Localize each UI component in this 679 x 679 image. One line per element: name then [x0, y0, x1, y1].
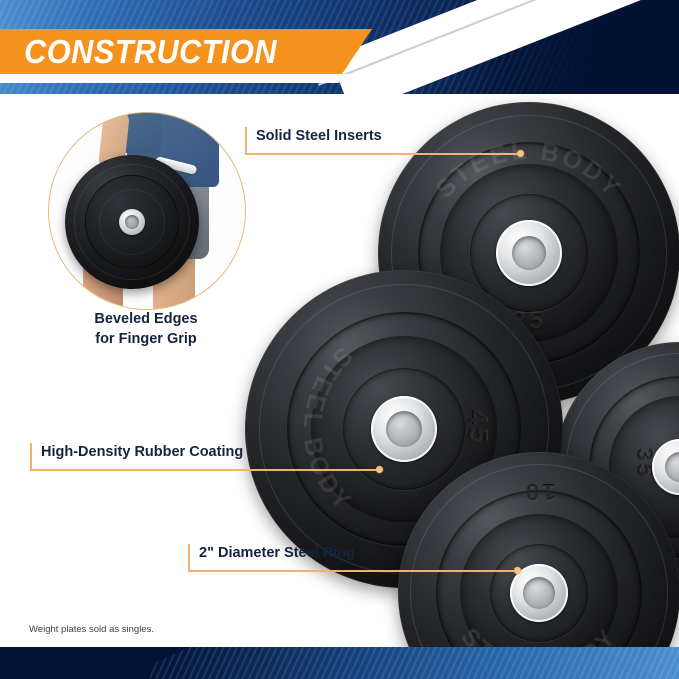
- inset-caption-line1: Beveled Edges: [28, 310, 264, 330]
- plate-10: 10 STEEL BODY: [398, 452, 679, 679]
- beveled-edge-inset-photo: [48, 112, 246, 310]
- callout-1-leader-tick: [245, 127, 247, 155]
- footer-banner-area: [0, 647, 679, 679]
- callout-2-leader-dot: [376, 466, 383, 473]
- inset-caption-line2: for Finger Grip: [28, 330, 264, 350]
- inset-scene: [49, 113, 245, 309]
- inset-caption: Beveled Edges for Finger Grip: [28, 310, 264, 349]
- inset-bumper-plate: [65, 155, 199, 289]
- disclaimer-text: Weight plates sold as singles.: [29, 624, 154, 635]
- callout-3-leader-dot: [514, 567, 521, 574]
- inset-plate-bore: [125, 215, 139, 229]
- callout-3-leader-tick: [188, 544, 190, 572]
- callout-3-leader-line: [188, 570, 518, 572]
- page-title: CONSTRUCTION: [0, 33, 277, 71]
- callout-2-leader-tick: [30, 443, 32, 471]
- callout-1-leader-line: [245, 153, 520, 155]
- callout-label-steel-ring: 2" Diameter Steel Ring: [199, 545, 355, 561]
- plate-25-bore: [512, 236, 546, 270]
- plate-45-steel-ring: [371, 396, 437, 462]
- inset-plate-steel-ring: [119, 209, 145, 235]
- plate-10-bore: [523, 577, 555, 609]
- callout-label-high-density-rubber-coating: High-Density Rubber Coating: [41, 444, 243, 460]
- section-title-banner: CONSTRUCTION: [0, 29, 372, 74]
- callout-1-leader-dot: [517, 150, 524, 157]
- footer-stripe-pattern: [150, 647, 679, 679]
- plate-10-weight: 10: [398, 478, 679, 506]
- infographic-canvas: CONSTRUCTION STEEL BODY 25 35: [0, 0, 679, 679]
- plate-45-bore: [386, 411, 422, 447]
- plate-25-steel-ring: [496, 220, 562, 286]
- callout-2-leader-line: [30, 469, 380, 471]
- callout-label-solid-steel-inserts: Solid Steel Inserts: [256, 128, 382, 144]
